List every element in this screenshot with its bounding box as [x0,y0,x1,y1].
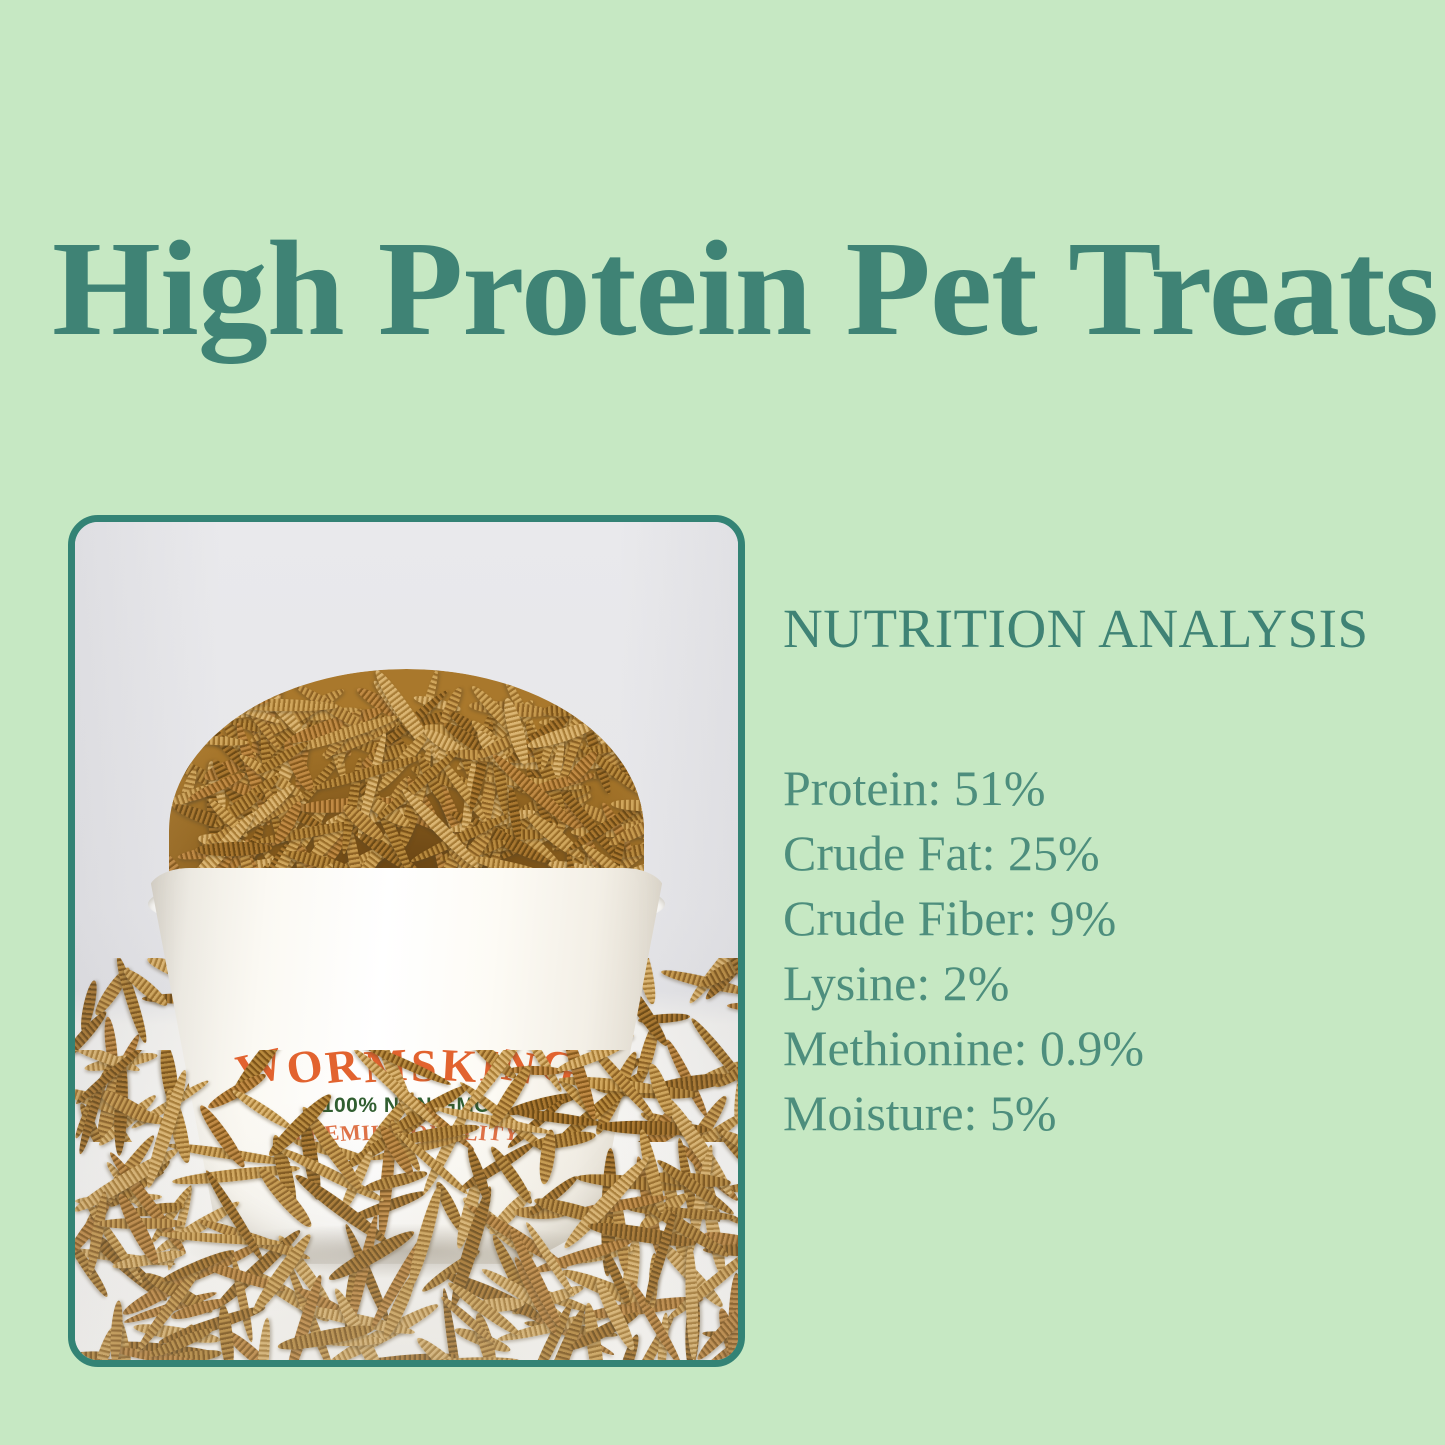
mealworm [712,1050,738,1092]
nutrition-item: Protein: 51% [783,756,1423,821]
nutrition-item: Moisture: 5% [783,1081,1423,1146]
nutrition-list: Protein: 51%Crude Fat: 25%Crude Fiber: 9… [783,756,1423,1146]
nutrition-heading: NUTRITION ANALYSIS [783,600,1423,658]
nutrition-item: Crude Fiber: 9% [783,886,1423,951]
mealworm [229,1087,296,1134]
nutrition-item: Methionine: 0.9% [783,1016,1423,1081]
product-photo-card: WORMSKING 100% NON-GMO PREMIUM QUALITY [68,515,745,1367]
mealworm [195,1102,249,1170]
nutrition-item: Lysine: 2% [783,951,1423,1016]
product-infographic: High Protein Pet Treats WORMSKING 100% N… [0,0,1445,1445]
scattered-mealworms-front [75,1050,738,1360]
page-title: High Protein Pet Treats [52,219,1443,359]
mealworm [362,1167,430,1194]
mealworm [727,1001,738,1014]
nutrition-item: Crude Fat: 25% [783,821,1423,886]
product-photo: WORMSKING 100% NON-GMO PREMIUM QUALITY [75,522,738,1360]
nutrition-panel: NUTRITION ANALYSIS Protein: 51%Crude Fat… [783,600,1423,1146]
